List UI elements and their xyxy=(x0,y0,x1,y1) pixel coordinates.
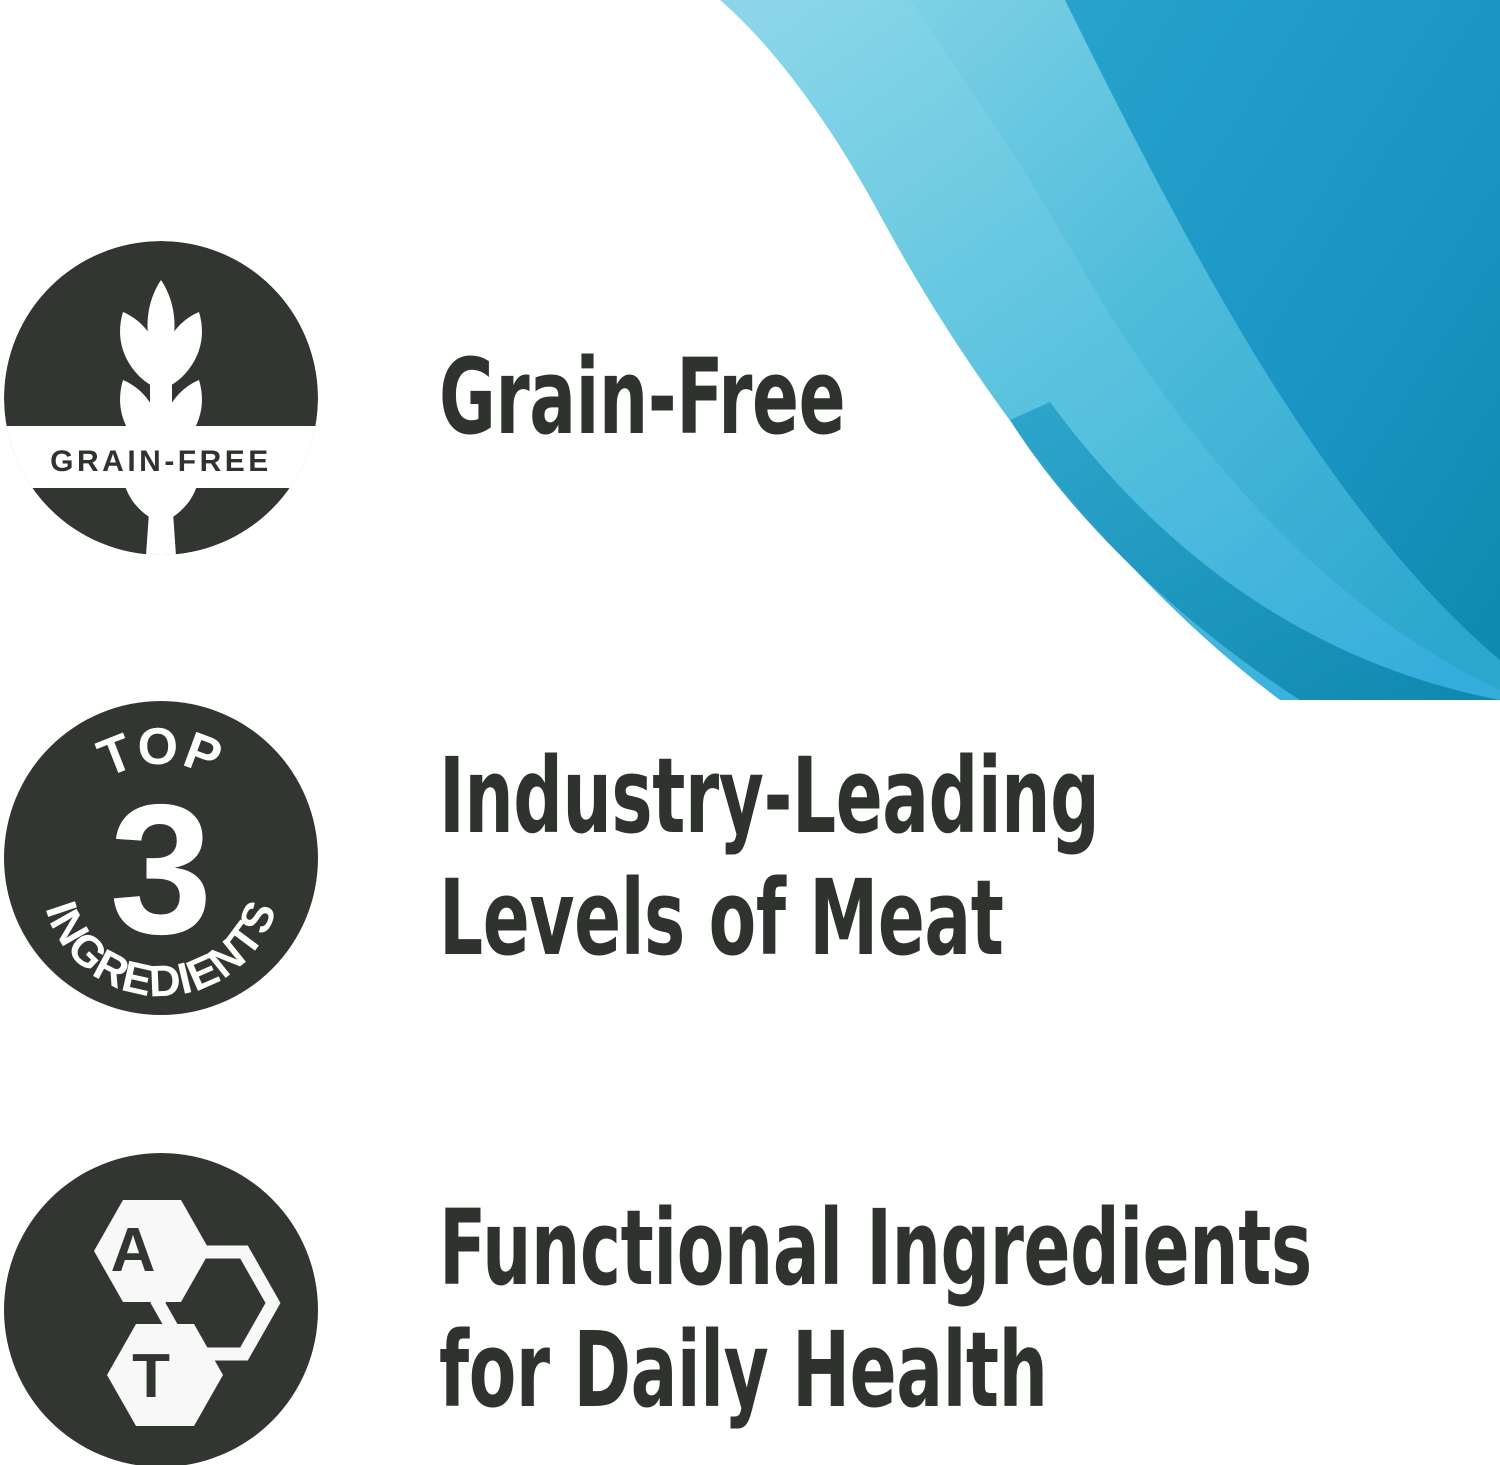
feature-text-industry-leading: Industry-Leading Levels of Meat xyxy=(439,736,1224,979)
badge-disc xyxy=(3,241,319,556)
number-3: 3 xyxy=(110,767,213,973)
feature-text-line: for Daily Health xyxy=(439,1310,1312,1432)
grain-free-badge: GRAIN-FREE xyxy=(3,240,319,556)
feature-text-line: Functional Ingredients xyxy=(439,1188,1312,1310)
feature-text-line: Levels of Meat xyxy=(439,858,1224,980)
feature-row: A T Functional Ingredients for Daily Hea… xyxy=(0,1152,1500,1465)
feature-row: GRAIN-FREE Grain-Free xyxy=(0,240,1500,556)
feature-text-line: Industry-Leading xyxy=(439,736,1224,858)
hexagon-t-label: T xyxy=(132,1342,170,1411)
feature-text-functional-ingredients: Functional Ingredients for Daily Health xyxy=(439,1188,1312,1431)
top-3-ingredients-badge: TOP 3 INGREDIENTS xyxy=(3,700,319,1016)
functional-ingredients-badge: A T xyxy=(3,1152,319,1465)
feature-highlights-panel: GRAIN-FREE Grain-Free TOP 3 INGREDIENTS xyxy=(0,0,1500,1465)
feature-text-grain-free: Grain-Free xyxy=(439,337,1224,459)
feature-row: TOP 3 INGREDIENTS Industry-Leading Level… xyxy=(0,700,1500,1016)
feature-text-line: Grain-Free xyxy=(439,337,1224,459)
grain-free-badge-label: GRAIN-FREE xyxy=(50,445,272,478)
hexagon-a-label: A xyxy=(111,1216,156,1285)
